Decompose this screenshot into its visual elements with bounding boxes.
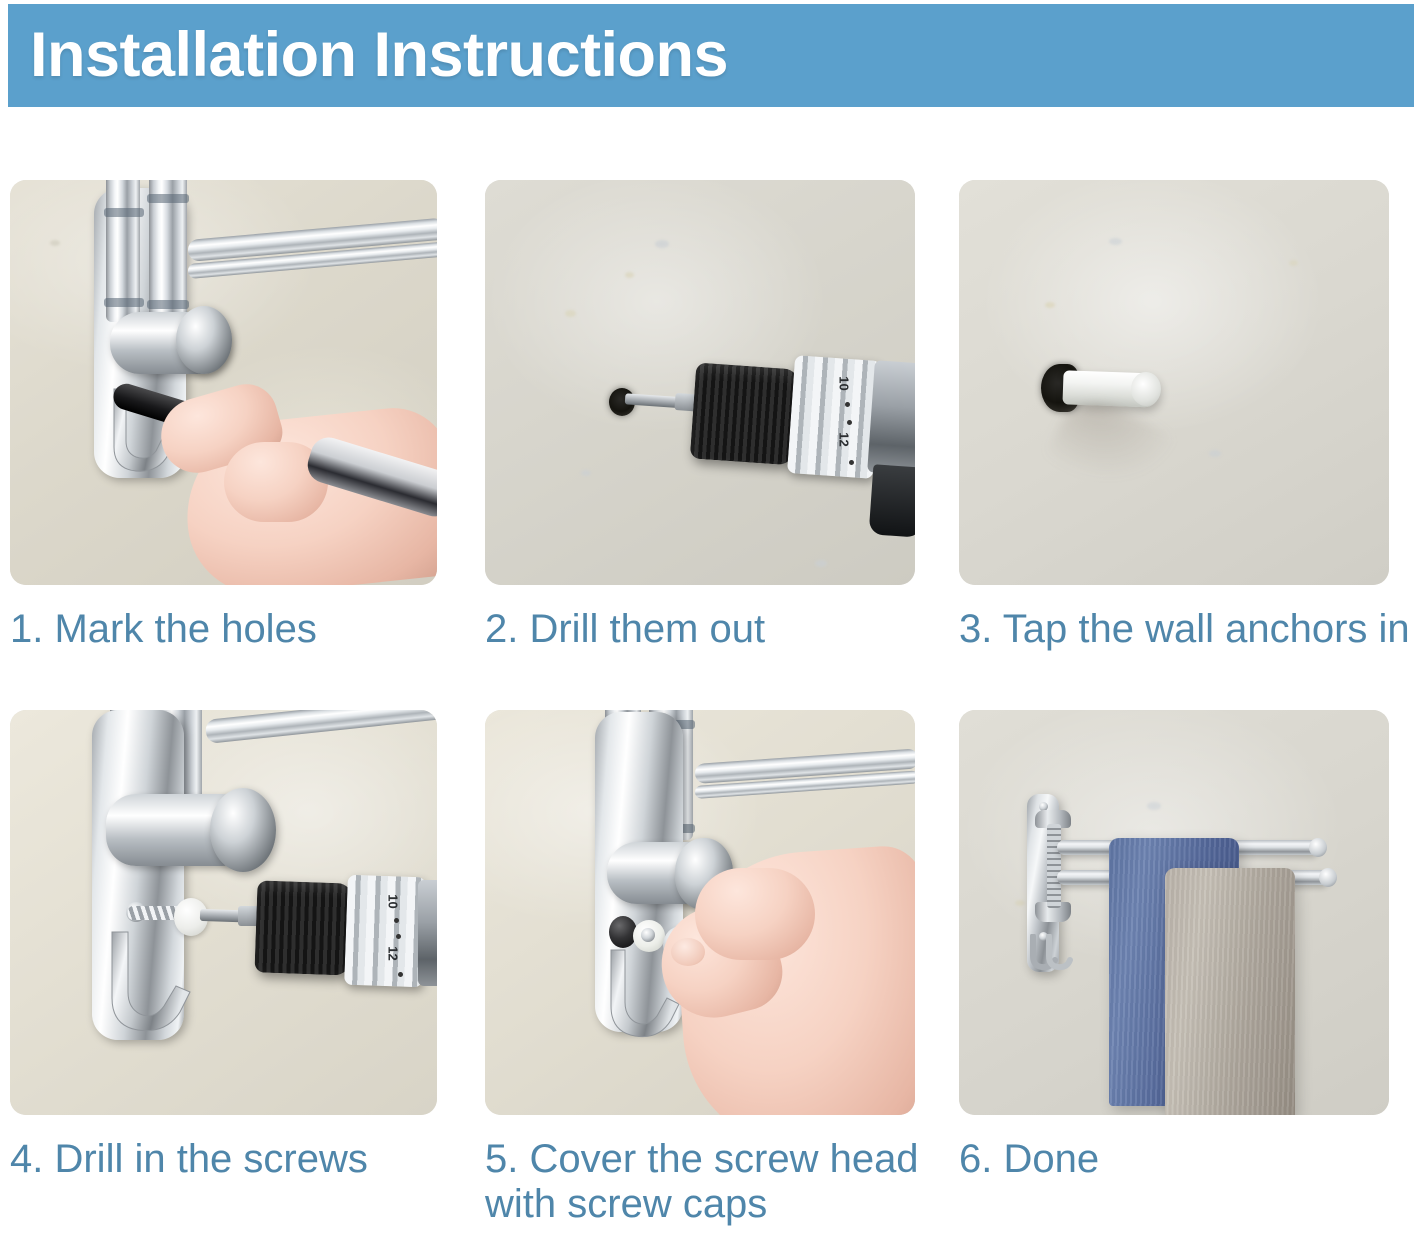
- step-3: 3. Tap the wall anchors in: [952, 180, 1422, 652]
- step-photo-drill-in-the-screws: 10 12: [10, 710, 437, 1115]
- step-6: 6. Done: [952, 710, 1422, 1227]
- step-2: 10 12 2. Drill them out: [482, 180, 952, 652]
- steps-row-top: 1. Mark the holes: [0, 180, 1422, 652]
- step-caption-2: 2. Drill them out: [485, 585, 952, 652]
- rack-hook-shape: [102, 928, 198, 1040]
- step-photo-mark-the-holes: [10, 180, 437, 585]
- header-banner: Installation Instructions: [8, 4, 1414, 107]
- rack-small-hooks: [1027, 934, 1073, 974]
- step-caption-5: 5. Cover the screw head with screw caps: [485, 1115, 952, 1227]
- step-photo-tap-wall-anchors-in: [959, 180, 1389, 585]
- step-1: 1. Mark the holes: [0, 180, 482, 652]
- step-caption-4: 4. Drill in the screws: [10, 1115, 482, 1182]
- step-photo-cover-screw-head-with-caps: [485, 710, 915, 1115]
- step-4: 10 12 4. Drill in the screws: [0, 710, 482, 1227]
- page-title: Installation Instructions: [8, 24, 728, 87]
- step-caption-3: 3. Tap the wall anchors in: [959, 585, 1422, 652]
- step-5: 5. Cover the screw head with screw caps: [482, 710, 952, 1227]
- step-photo-done: [959, 710, 1389, 1115]
- step-caption-6: 6. Done: [959, 1115, 1422, 1182]
- installation-steps-grid: 1. Mark the holes: [0, 180, 1422, 1228]
- steps-row-bottom: 10 12 4. Drill in the screws: [0, 710, 1422, 1227]
- step-photo-drill-them-out: 10 12: [485, 180, 915, 585]
- step-caption-1: 1. Mark the holes: [10, 585, 482, 652]
